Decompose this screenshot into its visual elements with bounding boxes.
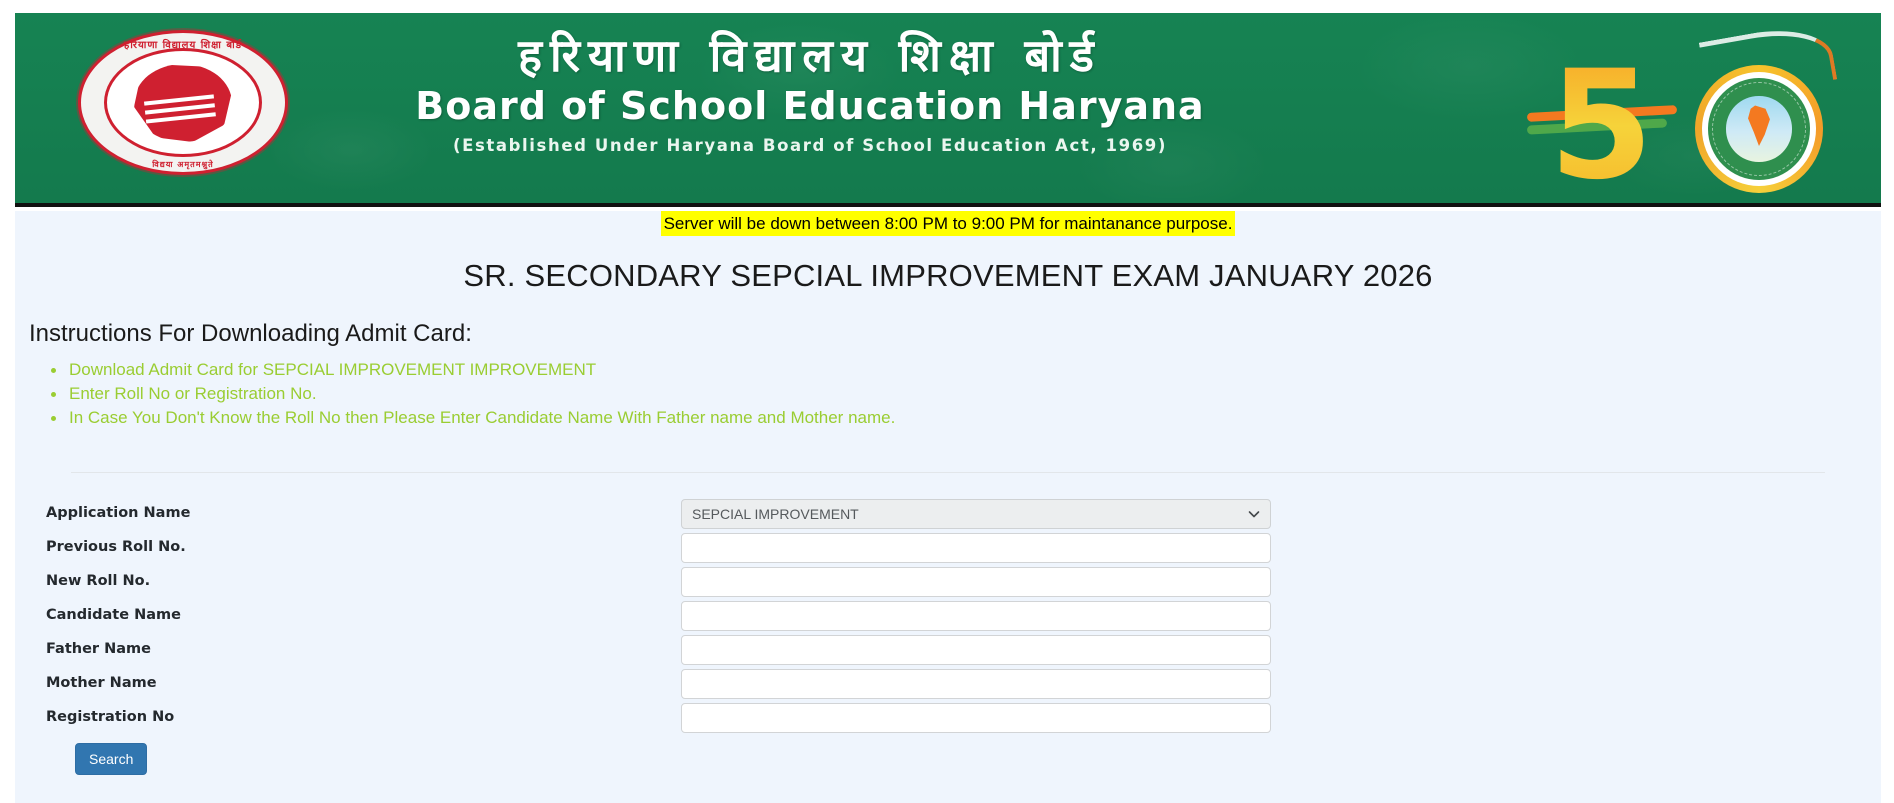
form-row-new-roll-no: New Roll No. — [29, 567, 1867, 601]
search-button[interactable]: Search — [75, 743, 147, 775]
form-row-registration-no: Registration No — [29, 703, 1867, 737]
instructions-list: Download Admit Card for SEPCIAL IMPROVEM… — [29, 358, 1867, 430]
section-divider — [71, 472, 1825, 473]
banner-title-block: हरियाणा विद्यालय शिक्षा बोर्ड Board of S… — [305, 31, 1315, 155]
instructions-heading: Instructions For Downloading Admit Card: — [29, 320, 1867, 348]
candidate-name-input[interactable] — [681, 601, 1271, 631]
main-content: SR. SECONDARY SEPCIAL IMPROVEMENT EXAM J… — [15, 238, 1881, 803]
search-button-row: Search — [29, 743, 1867, 775]
registration-no-wrap — [681, 703, 1271, 733]
application-name-select-wrap: SEPCIAL IMPROVEMENT — [681, 499, 1271, 529]
list-item: Enter Roll No or Registration No. — [65, 382, 1867, 406]
new-roll-no-wrap — [681, 567, 1271, 597]
label-father-name: Father Name — [46, 641, 151, 657]
jubilee-digit-five: 5 — [1549, 51, 1647, 201]
father-name-input[interactable] — [681, 635, 1271, 665]
form-row-father-name: Father Name — [29, 635, 1867, 669]
maintenance-notice-bar: Server will be down between 8:00 PM to 9… — [15, 211, 1881, 238]
father-name-wrap — [681, 635, 1271, 665]
form-row-candidate-name: Candidate Name — [29, 601, 1867, 635]
jubilee-emblem-white-ring — [1702, 72, 1816, 186]
page-root: हरियाणा विद्यालय शिक्षा बोर्ड विद्यया अम… — [0, 0, 1894, 803]
page-title: SR. SECONDARY SEPCIAL IMPROVEMENT EXAM J… — [29, 238, 1867, 294]
candidate-name-wrap — [681, 601, 1271, 631]
maintenance-notice-text: Server will be down between 8:00 PM to 9… — [661, 211, 1236, 236]
mother-name-wrap — [681, 669, 1271, 699]
india-map-icon — [1746, 105, 1772, 145]
form-row-mother-name: Mother Name — [29, 669, 1867, 703]
mother-name-input[interactable] — [681, 669, 1271, 699]
seal-top-text: हरियाणा विद्यालय शिक्षा बोर्ड — [78, 37, 288, 51]
label-previous-roll-no: Previous Roll No. — [46, 539, 186, 555]
previous-roll-no-input[interactable] — [681, 533, 1271, 563]
form-row-application-name: Application Name SEPCIAL IMPROVEMENT — [29, 499, 1867, 533]
board-title-hindi: हरियाणा विद्यालय शिक्षा बोर्ड — [305, 31, 1315, 81]
jubilee-emblem-center — [1726, 96, 1791, 161]
label-new-roll-no: New Roll No. — [46, 573, 150, 589]
label-registration-no: Registration No — [46, 709, 174, 725]
seal-bottom-text: विद्यया अमृतमश्नुते — [78, 159, 288, 170]
registration-no-input[interactable] — [681, 703, 1271, 733]
site-header-banner: हरियाणा विद्यालय शिक्षा बोर्ड विद्यया अम… — [15, 13, 1881, 207]
board-title-english: Board of School Education Haryana — [305, 85, 1315, 129]
list-item: In Case You Don't Know the Roll No then … — [65, 406, 1867, 430]
previous-roll-no-wrap — [681, 533, 1271, 563]
jubilee-emblem-green-ring — [1708, 78, 1810, 180]
golden-jubilee-logo: 5 — [1541, 25, 1841, 195]
jubilee-emblem-icon — [1695, 65, 1823, 193]
label-application-name: Application Name — [46, 505, 190, 521]
list-item: Download Admit Card for SEPCIAL IMPROVEM… — [65, 358, 1867, 382]
form-row-previous-roll-no: Previous Roll No. — [29, 533, 1867, 567]
new-roll-no-input[interactable] — [681, 567, 1271, 597]
admit-card-search-form: Application Name SEPCIAL IMPROVEMENT Pre… — [29, 499, 1867, 759]
bseh-seal-logo: हरियाणा विद्यालय शिक्षा बोर्ड विद्यया अम… — [78, 30, 288, 175]
board-subtitle: (Established Under Haryana Board of Scho… — [305, 136, 1315, 155]
label-candidate-name: Candidate Name — [46, 607, 181, 623]
application-name-select[interactable]: SEPCIAL IMPROVEMENT — [681, 499, 1271, 529]
label-mother-name: Mother Name — [46, 675, 157, 691]
